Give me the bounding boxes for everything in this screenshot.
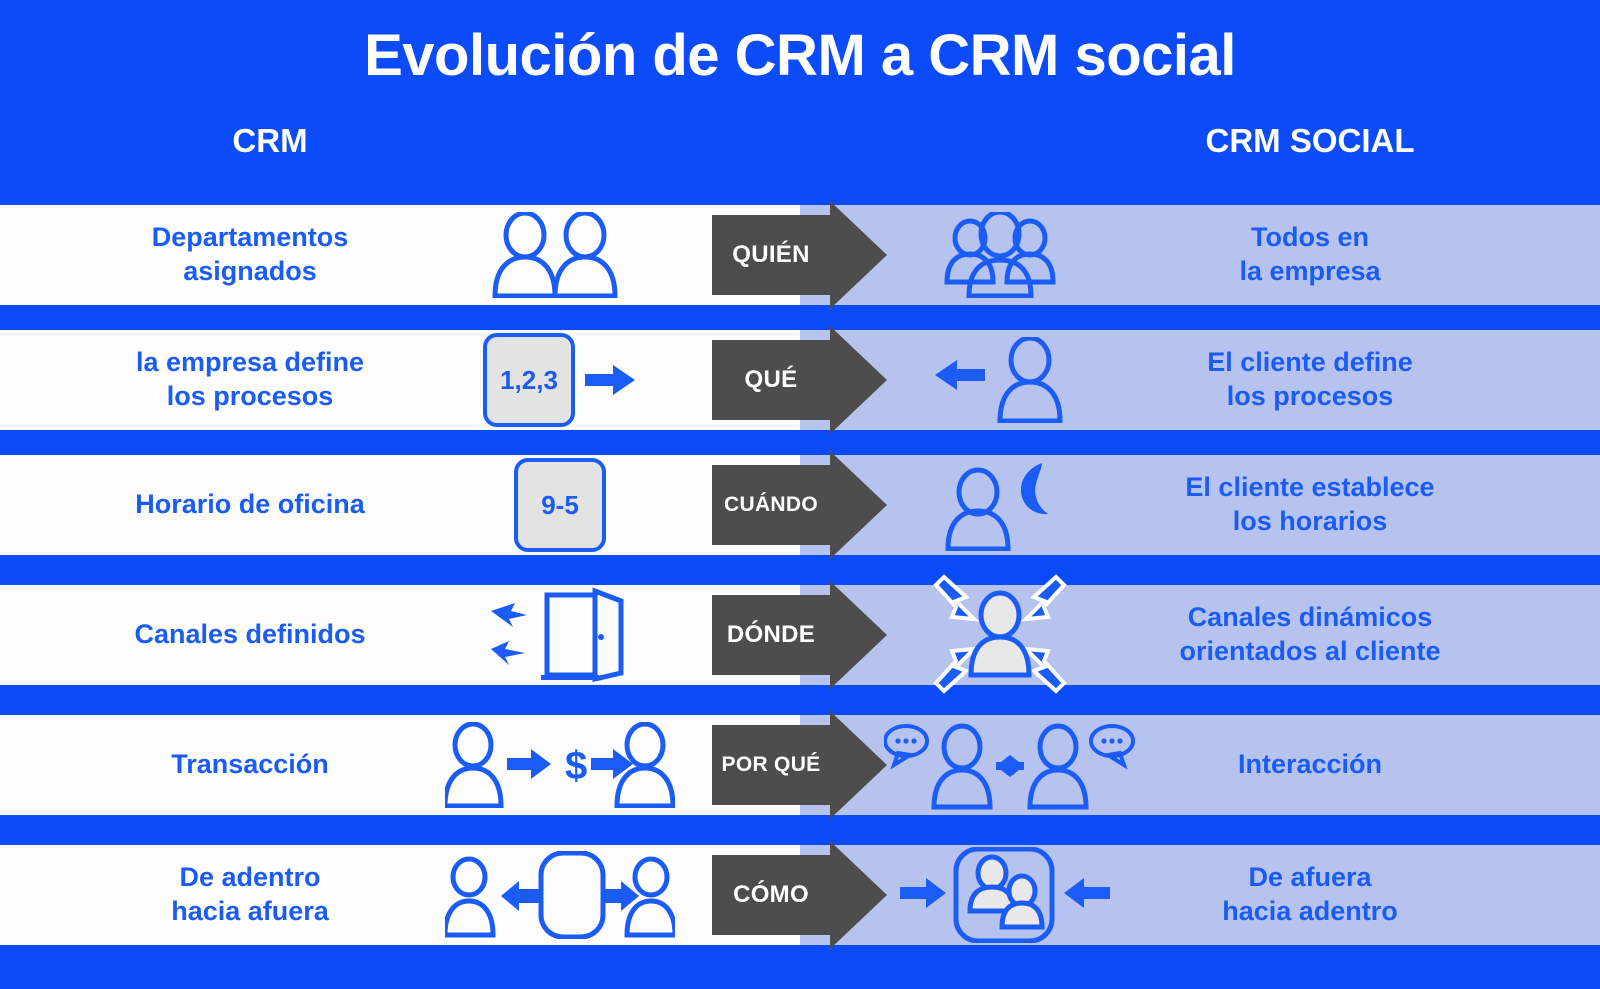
- arrows-into-door-icon: [420, 585, 700, 685]
- steps-chip: 1,2,3: [483, 333, 575, 427]
- person-moon-icon: [890, 455, 1110, 555]
- arrow-left-person-icon: [890, 330, 1110, 430]
- table-row: De adentro hacia afuera CÓMO: [0, 845, 1600, 945]
- column-header-crm-social: CRM SOCIAL: [1150, 122, 1470, 160]
- row-label-left: la empresa define los procesos: [60, 330, 440, 430]
- badge-arrow-por-que[interactable]: POR QUÉ: [712, 711, 887, 819]
- badge-arrow-cuando[interactable]: CUÁNDO: [712, 451, 887, 559]
- row-label-left: Horario de oficina: [60, 455, 440, 555]
- badge-arrow-como[interactable]: CÓMO: [712, 841, 887, 949]
- row-label-left: Transacción: [60, 715, 440, 815]
- office-hours-box-icon: 9-5: [420, 455, 700, 555]
- row-label-right: El cliente establece los horarios: [1110, 455, 1510, 555]
- row-label-right: De afuera hacia adentro: [1110, 845, 1510, 945]
- svg-text:$: $: [565, 744, 587, 788]
- row-label-left: Departamentos asignados: [60, 205, 440, 305]
- table-row: Departamentos asignados QUIÉN: [0, 205, 1600, 305]
- two-persons-chat-icon: [880, 715, 1140, 815]
- column-header-crm: CRM: [120, 122, 420, 160]
- hours-chip-label: 9-5: [541, 490, 579, 521]
- hours-chip: 9-5: [514, 458, 606, 552]
- badge-arrow-donde[interactable]: DÓNDE: [712, 581, 887, 689]
- group-of-people-icon: [890, 205, 1110, 305]
- infographic-canvas: Evolución de CRM a CRM social CRM CRM SO…: [0, 0, 1600, 989]
- table-row: Canales definidos DÓNDE: [0, 585, 1600, 685]
- person-money-person-icon: $: [420, 715, 700, 815]
- badge-arrow-quien[interactable]: QUIÉN: [712, 201, 887, 309]
- row-label-right: El cliente define los procesos: [1110, 330, 1510, 430]
- page-title: Evolución de CRM a CRM social: [0, 26, 1600, 87]
- inside-out-persons-icon: [420, 845, 700, 945]
- steps-chip-label: 1,2,3: [500, 365, 558, 396]
- outside-in-group-icon: [880, 845, 1130, 945]
- row-label-right: Todos en la empresa: [1110, 205, 1510, 305]
- table-row: la empresa define los procesos 1,2,3 QUÉ: [0, 330, 1600, 430]
- table-row: Transacción $ POR QUÉ: [0, 715, 1600, 815]
- badge-arrow-que[interactable]: QUÉ: [712, 326, 887, 434]
- row-label-left: Canales definidos: [60, 585, 440, 685]
- person-four-arrows-icon: [890, 585, 1110, 685]
- table-row: Horario de oficina 9-5 CUÁNDO El cliente…: [0, 455, 1600, 555]
- arrow-right-icon: [585, 363, 637, 397]
- steps-box-arrow-icon: 1,2,3: [420, 330, 700, 430]
- row-label-right: Canales dinámicos orientados al cliente: [1110, 585, 1510, 685]
- row-label-right: Interacción: [1110, 715, 1510, 815]
- row-label-left: De adentro hacia afuera: [60, 845, 440, 945]
- two-persons-icon: [420, 205, 700, 305]
